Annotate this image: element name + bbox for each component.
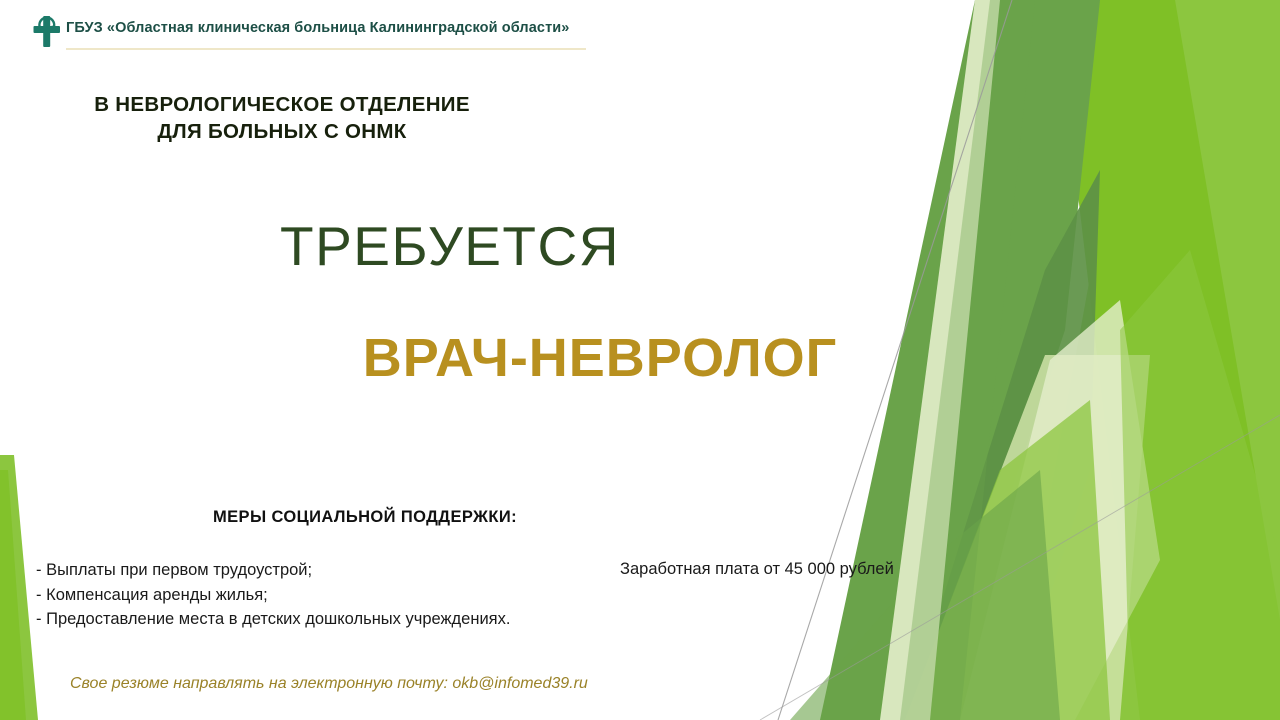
job-title: ВРАЧ-НЕВРОЛОГ bbox=[0, 327, 1200, 389]
organization-name: ГБУЗ «Областная клиническая больница Кал… bbox=[66, 14, 569, 37]
resume-email-note: Свое резюме направлять на электронную по… bbox=[70, 675, 588, 693]
list-item: - Предоставление места в детских дошколь… bbox=[36, 607, 616, 632]
department-title-line1: В НЕВРОЛОГИЧЕСКОЕ ОТДЕЛЕНИЕ bbox=[72, 91, 492, 118]
social-support-heading: МЕРЫ СОЦИАЛЬНОЙ ПОДДЕРЖКИ: bbox=[0, 508, 730, 527]
department-title-line2: ДЛЯ БОЛЬНЫХ С ОНМК bbox=[72, 118, 492, 145]
list-item: - Выплаты при первом трудоустрой; bbox=[36, 558, 616, 583]
social-support-list: - Выплаты при первом трудоустрой; - Комп… bbox=[36, 558, 616, 632]
department-title: В НЕВРОЛОГИЧЕСКОЕ ОТДЕЛЕНИЕ ДЛЯ БОЛЬНЫХ … bbox=[72, 91, 492, 145]
salary-note: Заработная плата от 45 000 рублей bbox=[620, 560, 894, 579]
slide-canvas: ГБУЗ «Областная клиническая больница Кал… bbox=[0, 0, 1280, 720]
header: ГБУЗ «Областная клиническая больница Кал… bbox=[30, 14, 650, 49]
medical-cross-snake-icon bbox=[30, 13, 64, 49]
header-divider bbox=[66, 48, 586, 50]
required-word: ТРЕБУЕТСЯ bbox=[0, 214, 900, 278]
list-item: - Компенсация аренды жилья; bbox=[36, 583, 616, 608]
